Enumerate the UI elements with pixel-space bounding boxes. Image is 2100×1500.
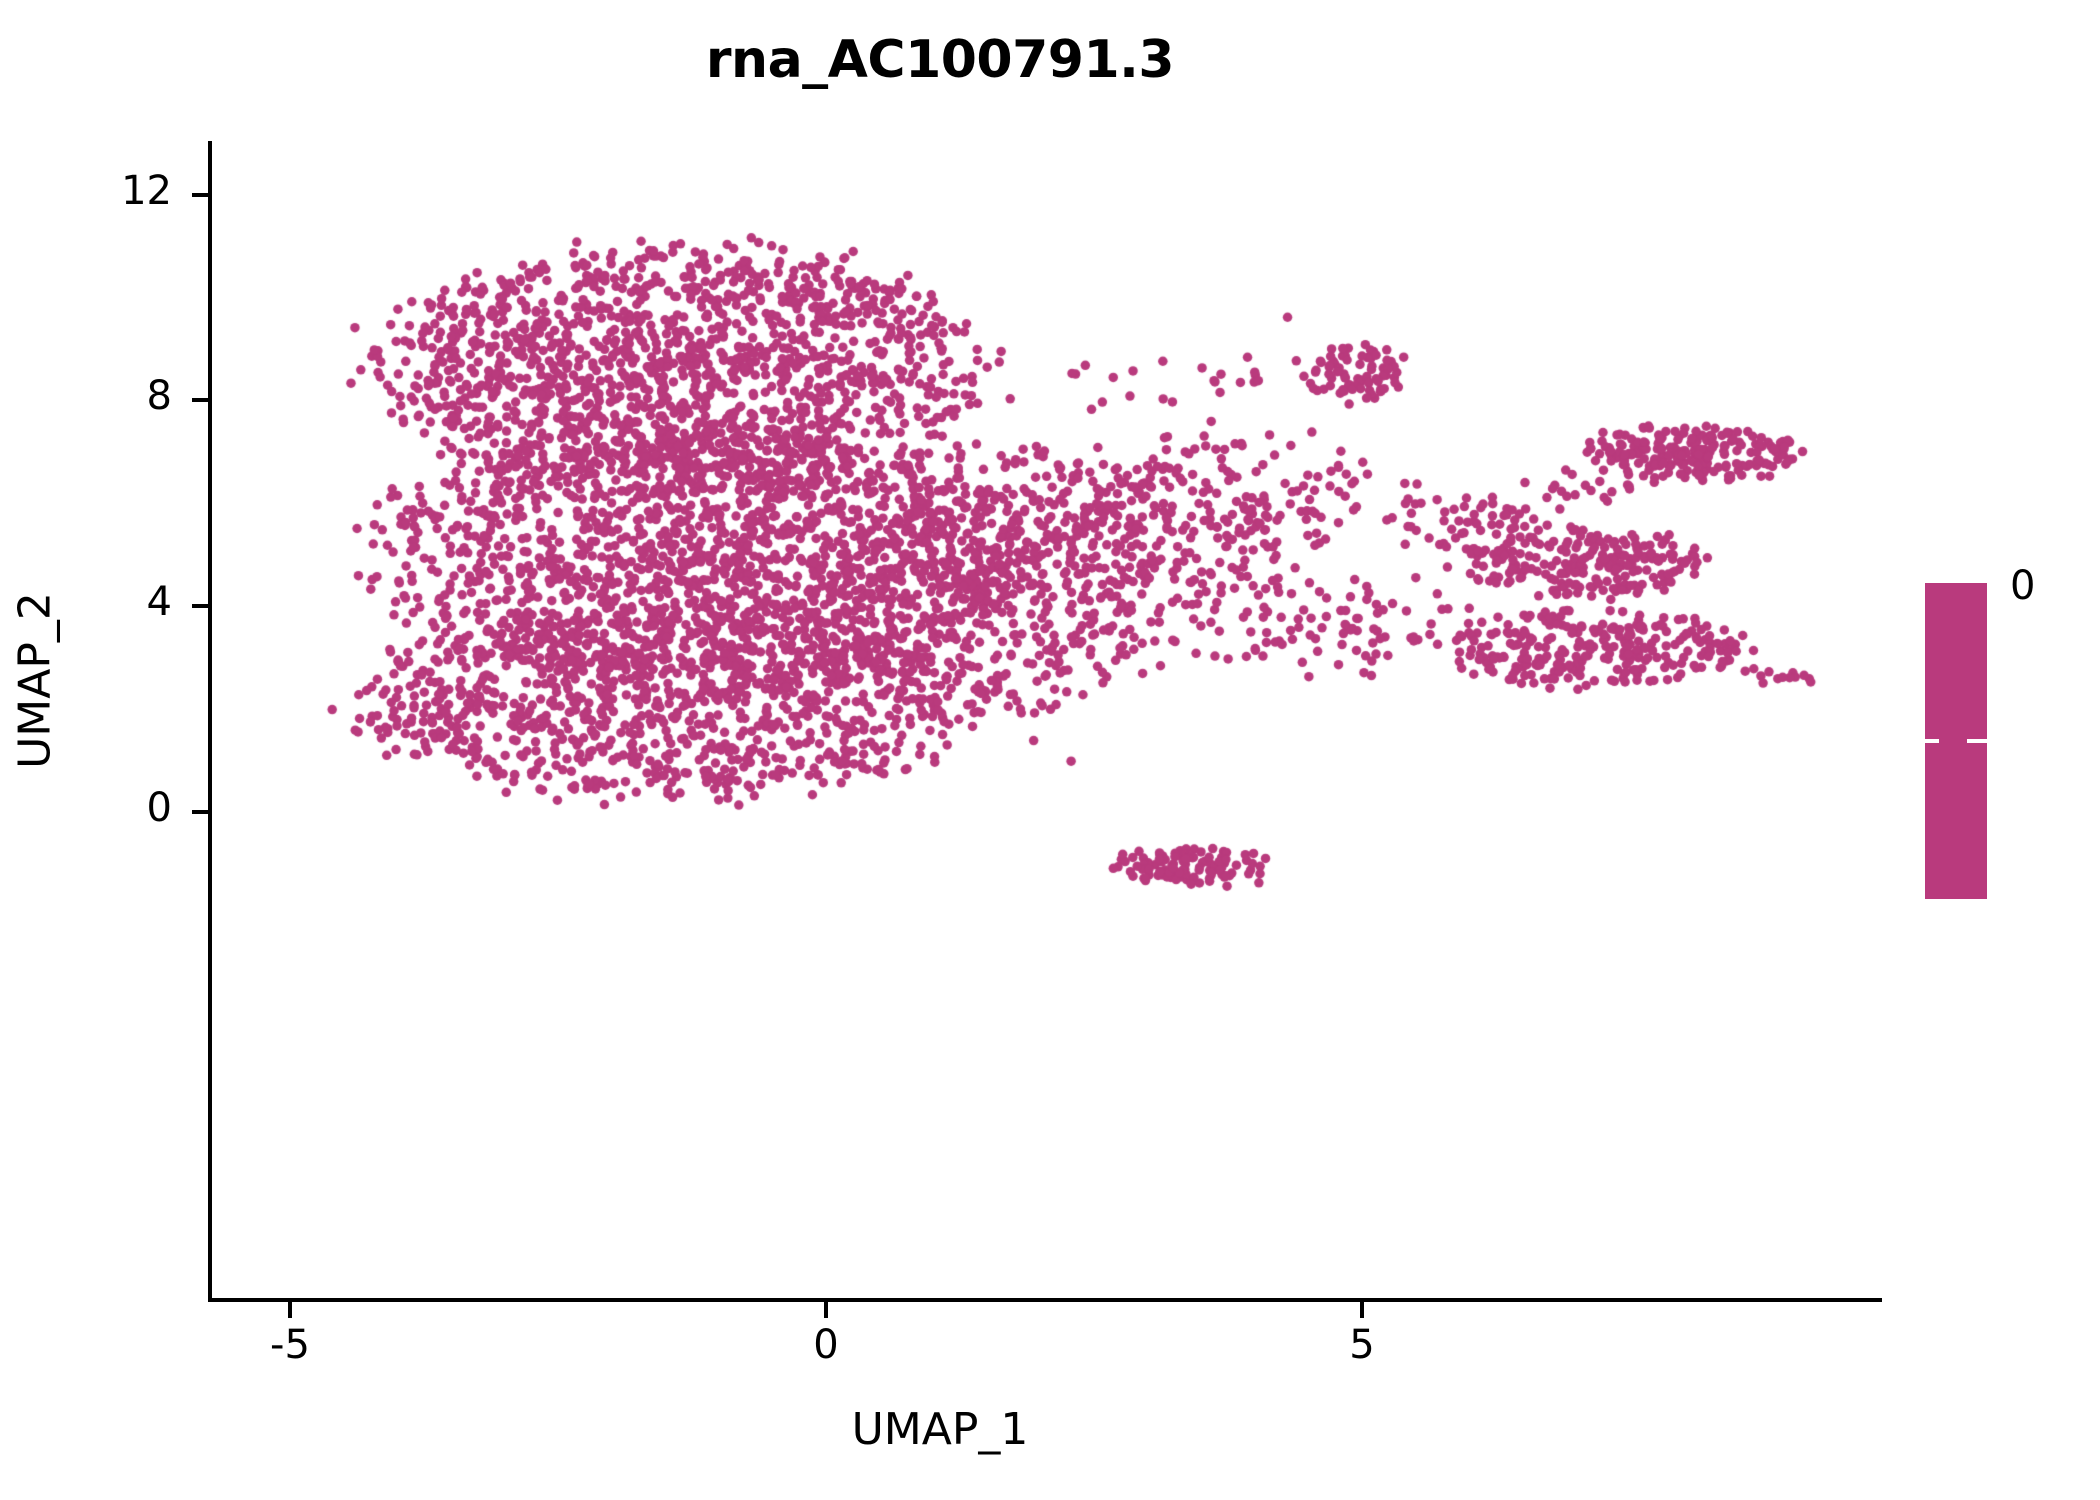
x-tick-label-5: 5	[1302, 1322, 1422, 1368]
x-tick-mark-0	[824, 1302, 828, 1318]
x-axis-spine	[208, 1298, 1882, 1302]
colorbar-tick-label: 0	[2010, 563, 2035, 609]
x-tick-mark-neg5	[288, 1302, 292, 1318]
x-tick-mark-5	[1360, 1302, 1364, 1318]
y-axis-title: UMAP_2	[10, 371, 61, 991]
colorbar-tick-mark	[1925, 739, 1987, 743]
x-tick-label-neg5: -5	[230, 1322, 350, 1368]
y-tick-mark-0	[192, 810, 208, 814]
y-tick-label-12: 12	[52, 168, 172, 214]
y-tick-mark-8	[192, 398, 208, 402]
y-tick-label-4: 4	[52, 579, 172, 625]
colorbar	[1925, 583, 1987, 899]
y-axis-spine	[208, 141, 212, 1302]
y-tick-mark-12	[192, 193, 208, 197]
y-tick-mark-4	[192, 604, 208, 608]
y-tick-label-0: 0	[52, 785, 172, 831]
figure-root: rna_AC100791.3 12 8 4 0 -5 0 5 UMAP_1 UM…	[0, 0, 2100, 1500]
x-tick-label-0: 0	[766, 1322, 886, 1368]
x-axis-title: UMAP_1	[0, 1404, 1880, 1455]
scatter-plot-canvas	[0, 0, 2100, 1500]
y-tick-label-8: 8	[52, 373, 172, 419]
